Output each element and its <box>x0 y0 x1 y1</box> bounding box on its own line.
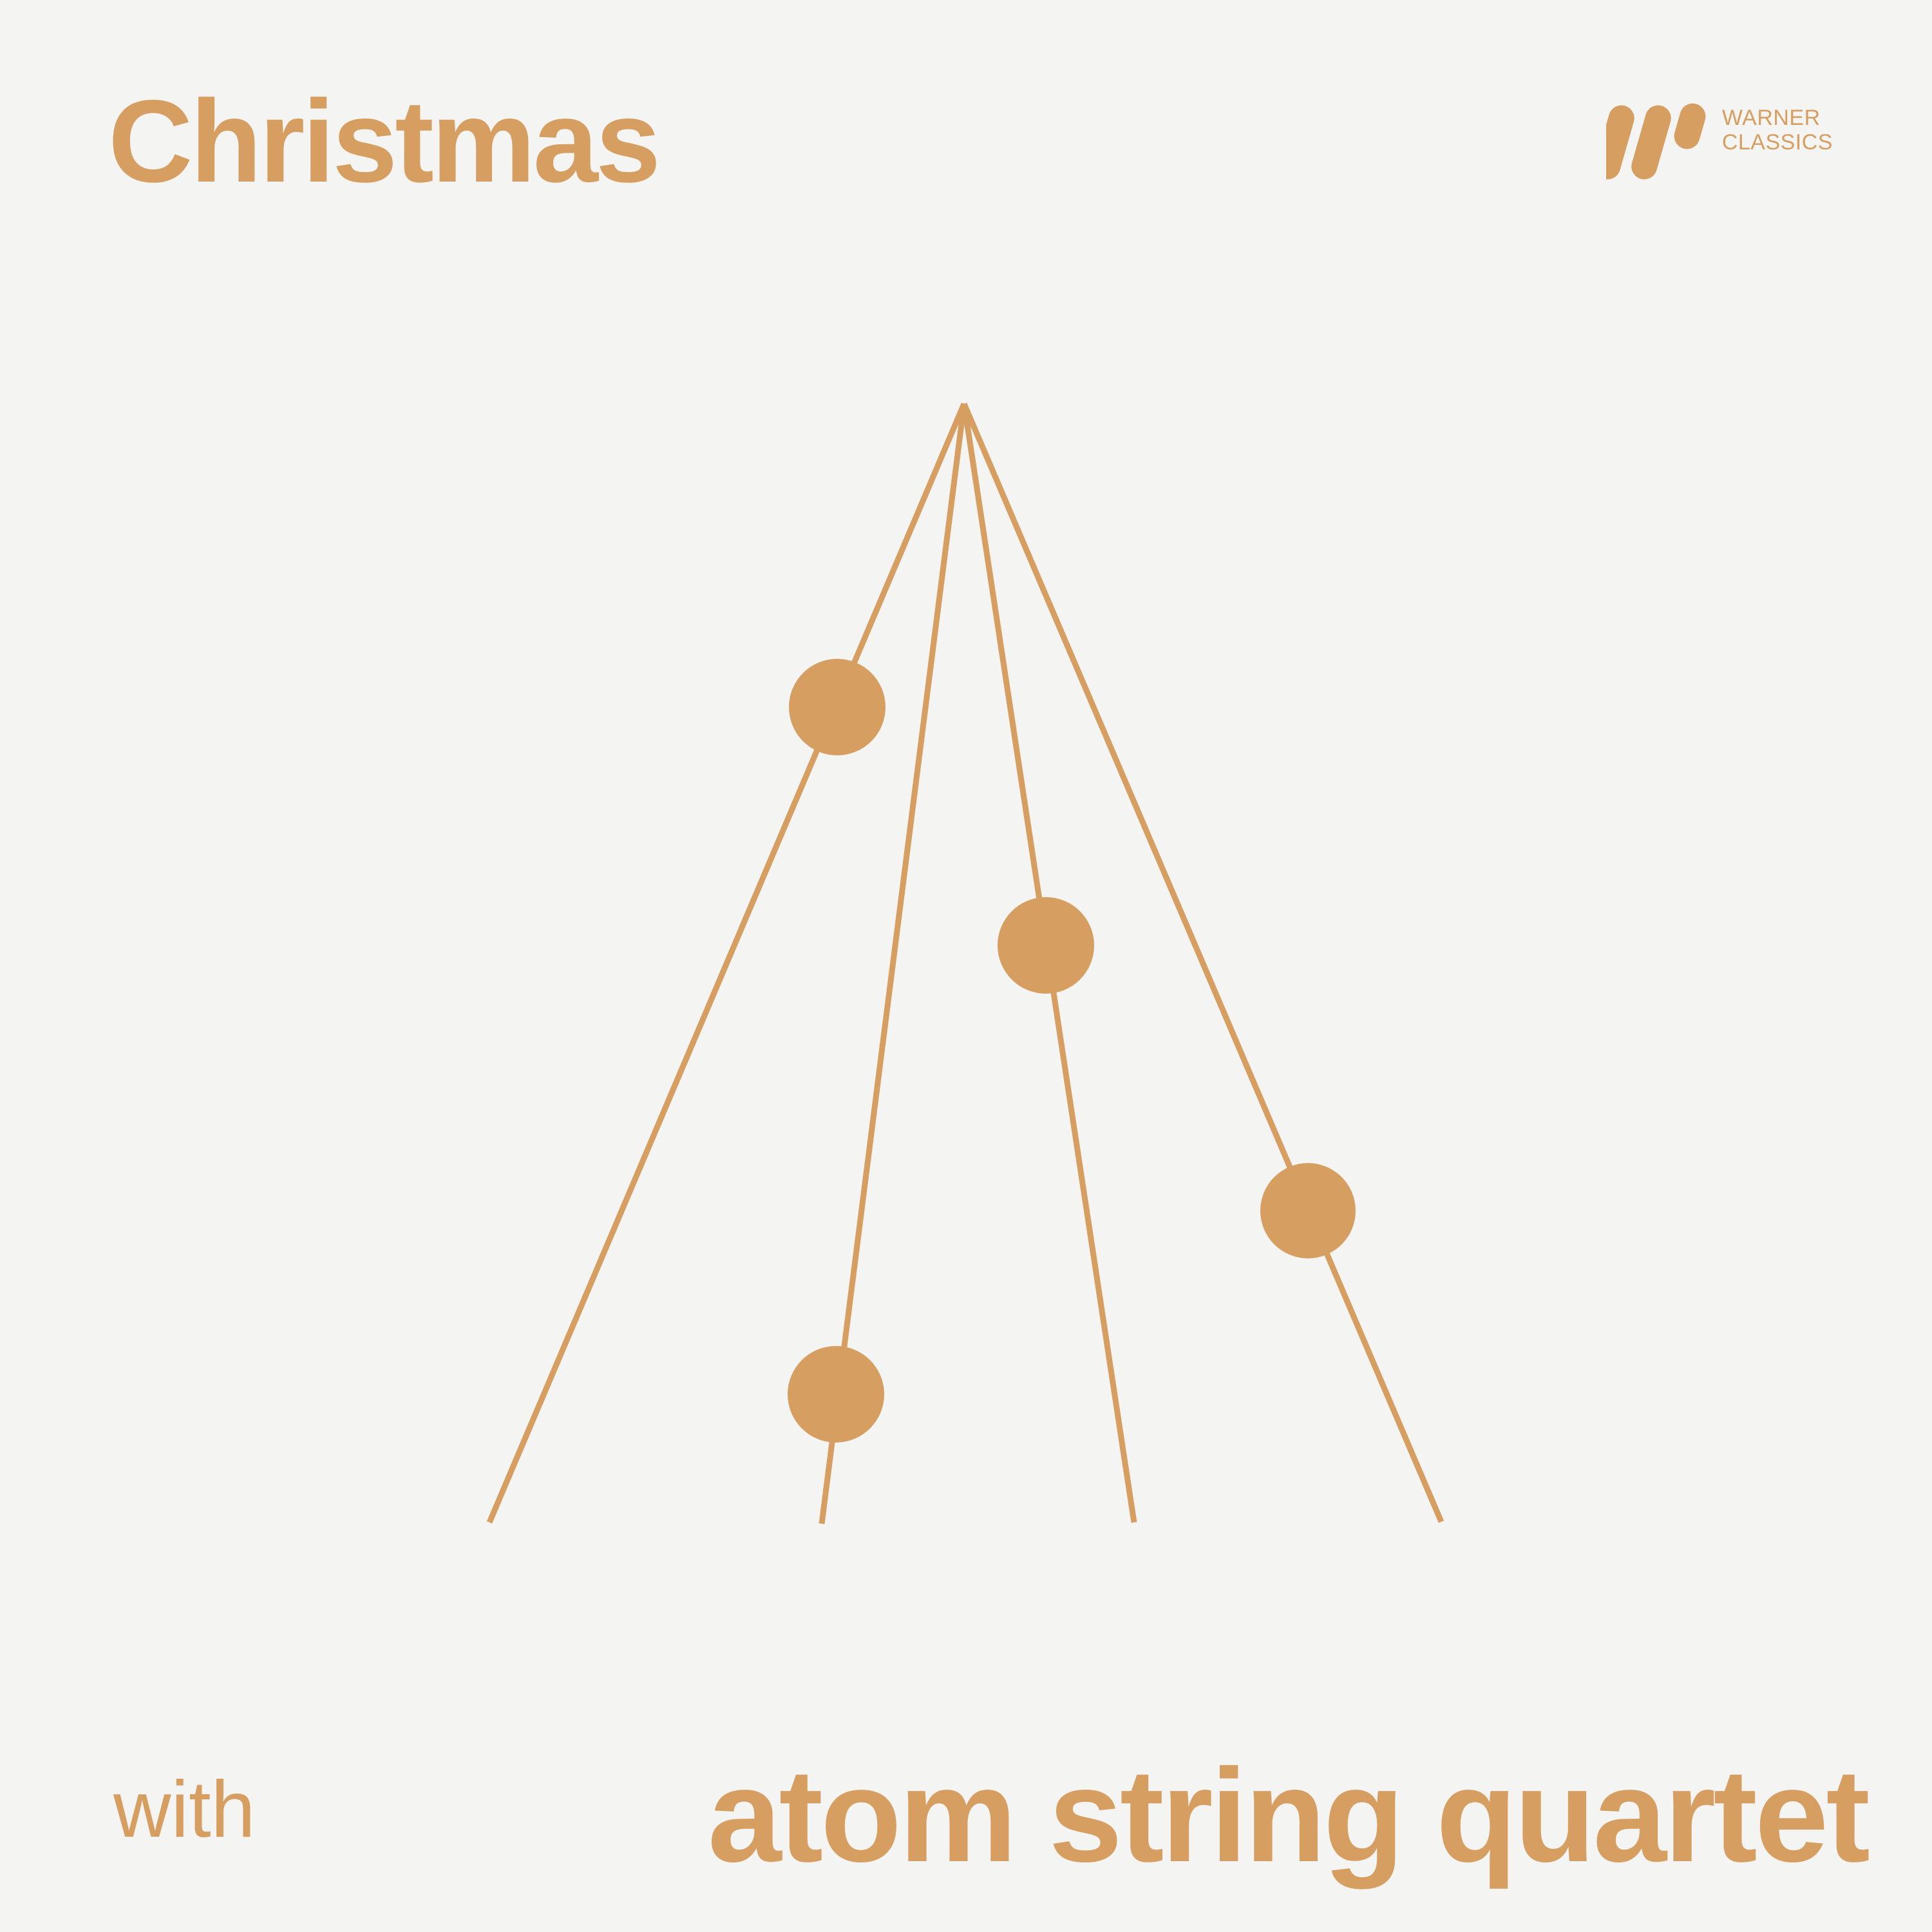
album-cover: Christmas WARNER CLASSICS with atom stri… <box>0 0 1932 1932</box>
tree-ornament-2 <box>998 897 1094 994</box>
abstract-christmas-tree <box>0 0 1932 1932</box>
tree-ornament-4 <box>788 1346 884 1443</box>
artist-name: atom string quartet <box>708 1749 1868 1882</box>
tree-ray-group <box>489 404 1441 1524</box>
credit-prefix-label: with <box>113 1770 256 1850</box>
tree-ornament-3 <box>1260 1163 1356 1258</box>
tree-ornament-group <box>788 659 1356 1443</box>
tree-ornament-1 <box>789 659 885 755</box>
